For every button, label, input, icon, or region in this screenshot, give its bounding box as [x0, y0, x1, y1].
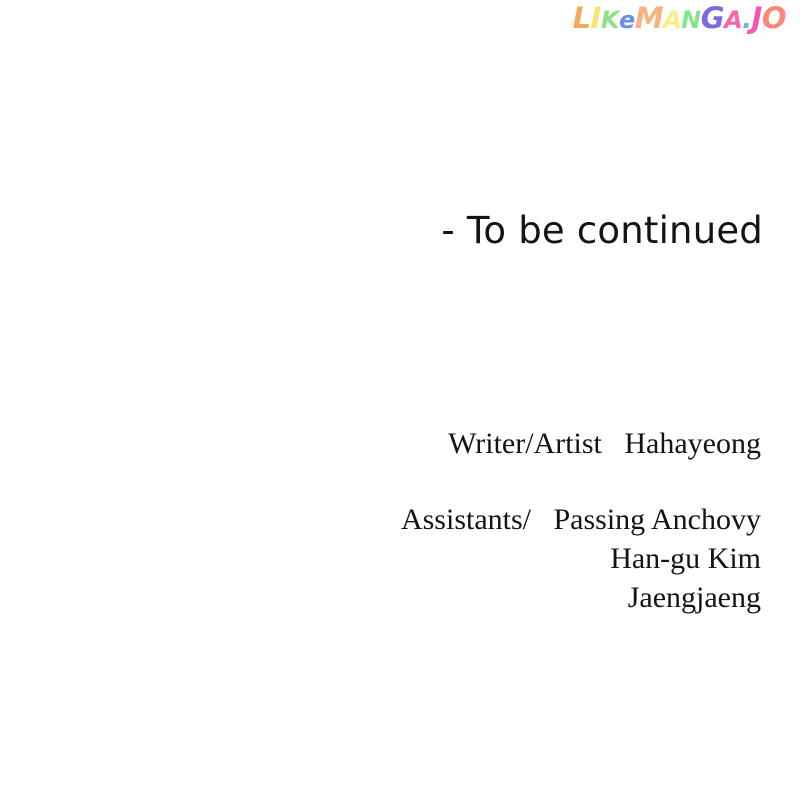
logo-letter-m: M — [635, 1, 663, 35]
logo-letter-a2: A — [724, 3, 742, 37]
logo-letter-a1: A — [663, 3, 681, 37]
logo-letter-n: N — [681, 3, 701, 37]
logo-letter-g: G — [701, 1, 724, 35]
logo-letter-i: I — [591, 1, 601, 35]
credit-spacer — [0, 463, 761, 500]
logo-letter-k: K — [601, 3, 619, 37]
likemanga-logo[interactable]: LIKeMANGA.JO — [573, 1, 786, 37]
credit-line-assistant-2: Han-gu Kim — [0, 539, 761, 578]
credit-line-writer-artist: Writer/Artist Hahayeong — [0, 424, 761, 463]
credits-block: Writer/Artist Hahayeong Assistants/ Pass… — [0, 424, 761, 617]
logo-dot: . — [742, 3, 751, 37]
credit-line-assistant-3: Jaengjaeng — [0, 578, 761, 617]
logo-letter-o: O — [762, 1, 786, 35]
comic-page: LIKeMANGA.JO - To be continued Writer/Ar… — [0, 0, 800, 807]
logo-letter-j: J — [752, 1, 762, 35]
credit-line-assistants: Assistants/ Passing Anchovy — [0, 500, 761, 539]
to-be-continued-text: - To be continued — [0, 209, 763, 252]
logo-letter-e: e — [619, 3, 635, 37]
logo-letter-l: L — [573, 1, 591, 35]
